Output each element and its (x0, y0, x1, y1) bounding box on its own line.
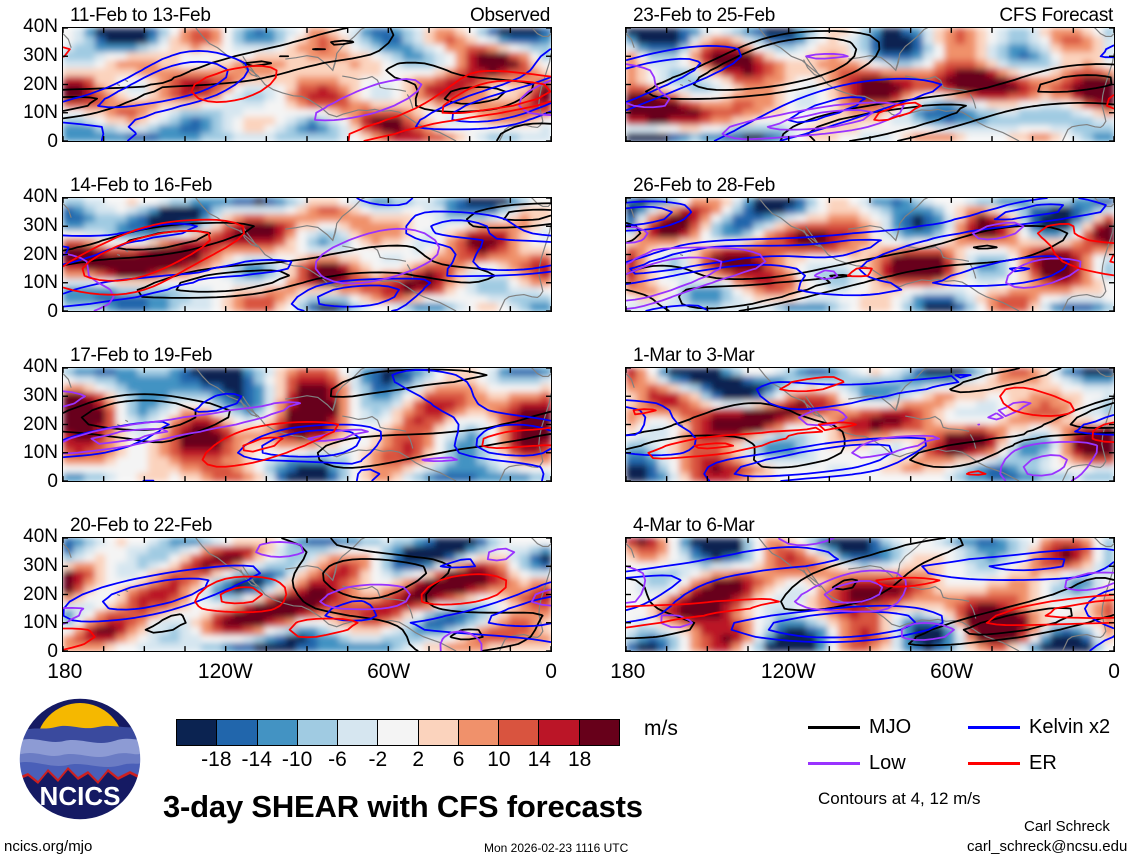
panel-title-p5: 23-Feb to 25-Feb (633, 5, 775, 27)
shear-field-p4 (63, 538, 551, 651)
legend-item-er: ER (968, 752, 1057, 775)
panel-title-p1: 11-Feb to 13-Feb (70, 5, 211, 27)
y-tick-label: 40N (23, 16, 58, 38)
legend-label-mjo: MJO (869, 716, 911, 739)
panel-column-header-right: CFS Forecast (999, 5, 1113, 27)
author-email: carl_schreck@ncsu.edu (967, 838, 1127, 855)
map-frame-p6 (625, 197, 1115, 312)
x-tick-label: 0 (545, 660, 557, 684)
colorbar-unit-label: m/s (644, 717, 678, 741)
y-axis-p3: 40N30N20N10N0 (2, 367, 58, 482)
colorbar-tick-label: -10 (282, 748, 312, 772)
legend-item-mjo: MJO (808, 716, 968, 739)
contour-legend: MJO Kelvin x2 Low ER (808, 712, 1128, 778)
y-axis-p4: 40N30N20N10N0 (2, 537, 58, 652)
x-axis-right: 180120W60W0 (625, 660, 1115, 688)
map-panel-p4: 20-Feb to 22-Feb (62, 537, 552, 652)
y-tick-label: 20N (23, 74, 58, 96)
colorbar-tick-label: 10 (487, 748, 510, 772)
ncics-logo: NCICS (18, 697, 142, 821)
y-tick-label: 0 (47, 471, 58, 493)
x-tick-label: 180 (610, 660, 645, 684)
shear-field-p2 (63, 198, 551, 311)
legend-line-low (808, 762, 860, 765)
colorbar-segment (419, 720, 459, 745)
x-axis-left: 180120W60W0 (62, 660, 552, 688)
y-tick-label: 10N (23, 442, 58, 464)
map-panel-p2: 14-Feb to 16-Feb (62, 197, 552, 312)
y-tick-label: 40N (23, 186, 58, 208)
map-frame-p4 (62, 537, 552, 652)
colorbar-segment (459, 720, 499, 745)
y-tick-label: 0 (47, 641, 58, 663)
y-tick-label: 10N (23, 612, 58, 634)
map-panel-p1: 11-Feb to 13-FebObserved (62, 27, 552, 142)
colorbar: -18-14-10-6-226101418 m/s (176, 719, 620, 774)
contour-note: Contours at 4, 12 m/s (818, 789, 981, 809)
map-panel-p3: 17-Feb to 19-Feb (62, 367, 552, 482)
colorbar-tick-label: -6 (328, 748, 347, 772)
timestamp: Mon 2026-02-23 1116 UTC (484, 841, 628, 855)
figure-title: 3-day SHEAR with CFS forecasts (163, 789, 643, 825)
colorbar-tick-label: 14 (528, 748, 551, 772)
map-panel-p6: 26-Feb to 28-Feb (625, 197, 1115, 312)
legend-line-er (968, 762, 1020, 765)
map-frame-p8 (625, 537, 1115, 652)
legend-row-1: MJO Kelvin x2 (808, 712, 1128, 742)
x-tick-label: 0 (1108, 660, 1120, 684)
map-frame-p2 (62, 197, 552, 312)
panel-title-p2: 14-Feb to 16-Feb (70, 175, 212, 197)
colorbar-tick-label: 18 (568, 748, 591, 772)
shear-field-p3 (63, 368, 551, 481)
legend-item-low: Low (808, 752, 968, 775)
shear-field-p1 (63, 28, 551, 141)
y-tick-label: 30N (23, 555, 58, 577)
y-tick-label: 30N (23, 385, 58, 407)
colorbar-segment (258, 720, 298, 745)
legend-line-mjo (808, 726, 860, 729)
map-panel-p5: 23-Feb to 25-FebCFS Forecast (625, 27, 1115, 142)
y-tick-label: 0 (47, 301, 58, 323)
colorbar-segment (338, 720, 378, 745)
colorbar-segment (378, 720, 418, 745)
map-frame-p3 (62, 367, 552, 482)
legend-row-2: Low ER (808, 748, 1128, 778)
legend-label-low: Low (869, 752, 906, 775)
map-frame-p7 (625, 367, 1115, 482)
x-tick-label: 120W (761, 660, 816, 684)
map-frame-p1 (62, 27, 552, 142)
y-tick-label: 0 (47, 131, 58, 153)
colorbar-tick-label: -18 (201, 748, 231, 772)
colorbar-segment (580, 720, 619, 745)
y-tick-label: 40N (23, 526, 58, 548)
shading-layer (63, 198, 551, 311)
map-panel-p7: 1-Mar to 3-Mar (625, 367, 1115, 482)
y-tick-label: 30N (23, 215, 58, 237)
legend-line-kelvin (968, 726, 1020, 729)
shear-field-p5 (626, 28, 1114, 141)
legend-item-kelvin: Kelvin x2 (968, 716, 1110, 739)
colorbar-ticklabels: -18-14-10-6-226101418 (176, 746, 620, 774)
colorbar-tick-label: -2 (368, 748, 387, 772)
panel-title-p7: 1-Mar to 3-Mar (633, 345, 754, 367)
shear-field-p7 (626, 368, 1114, 481)
y-tick-label: 20N (23, 244, 58, 266)
panel-column-header-left: Observed (470, 5, 550, 27)
colorbar-segment (298, 720, 338, 745)
colorbar-tick-label: 6 (453, 748, 465, 772)
panel-title-p4: 20-Feb to 22-Feb (70, 515, 212, 537)
colorbar-segment (499, 720, 539, 745)
x-tick-label: 120W (198, 660, 253, 684)
site-url: ncics.org/mjo (4, 838, 92, 855)
colorbar-segment (217, 720, 257, 745)
panel-title-p6: 26-Feb to 28-Feb (633, 175, 775, 197)
colorbar-segment (177, 720, 217, 745)
x-tick-label: 60W (930, 660, 973, 684)
y-tick-label: 10N (23, 102, 58, 124)
y-tick-label: 30N (23, 45, 58, 67)
legend-label-er: ER (1029, 752, 1057, 775)
colorbar-tick-label: 2 (412, 748, 424, 772)
y-tick-label: 10N (23, 272, 58, 294)
map-frame-p5 (625, 27, 1115, 142)
ncics-logo-text: NCICS (40, 781, 121, 811)
colorbar-segments (176, 719, 620, 746)
map-panel-p8: 4-Mar to 6-Mar (625, 537, 1115, 652)
ncics-logo-graphic: NCICS (18, 697, 142, 821)
x-tick-label: 60W (367, 660, 410, 684)
panel-title-p8: 4-Mar to 6-Mar (633, 515, 754, 537)
legend-label-kelvin: Kelvin x2 (1029, 716, 1110, 739)
author-name: Carl Schreck (1024, 818, 1110, 835)
shear-field-p8 (626, 538, 1114, 651)
y-tick-label: 20N (23, 414, 58, 436)
y-tick-label: 20N (23, 584, 58, 606)
x-tick-label: 180 (47, 660, 82, 684)
y-tick-label: 40N (23, 356, 58, 378)
panel-title-p3: 17-Feb to 19-Feb (70, 345, 212, 367)
y-axis-p2: 40N30N20N10N0 (2, 197, 58, 312)
colorbar-tick-label: -14 (242, 748, 272, 772)
colorbar-segment (539, 720, 579, 745)
shear-field-p6 (626, 198, 1114, 311)
y-axis-p1: 40N30N20N10N0 (2, 27, 58, 142)
